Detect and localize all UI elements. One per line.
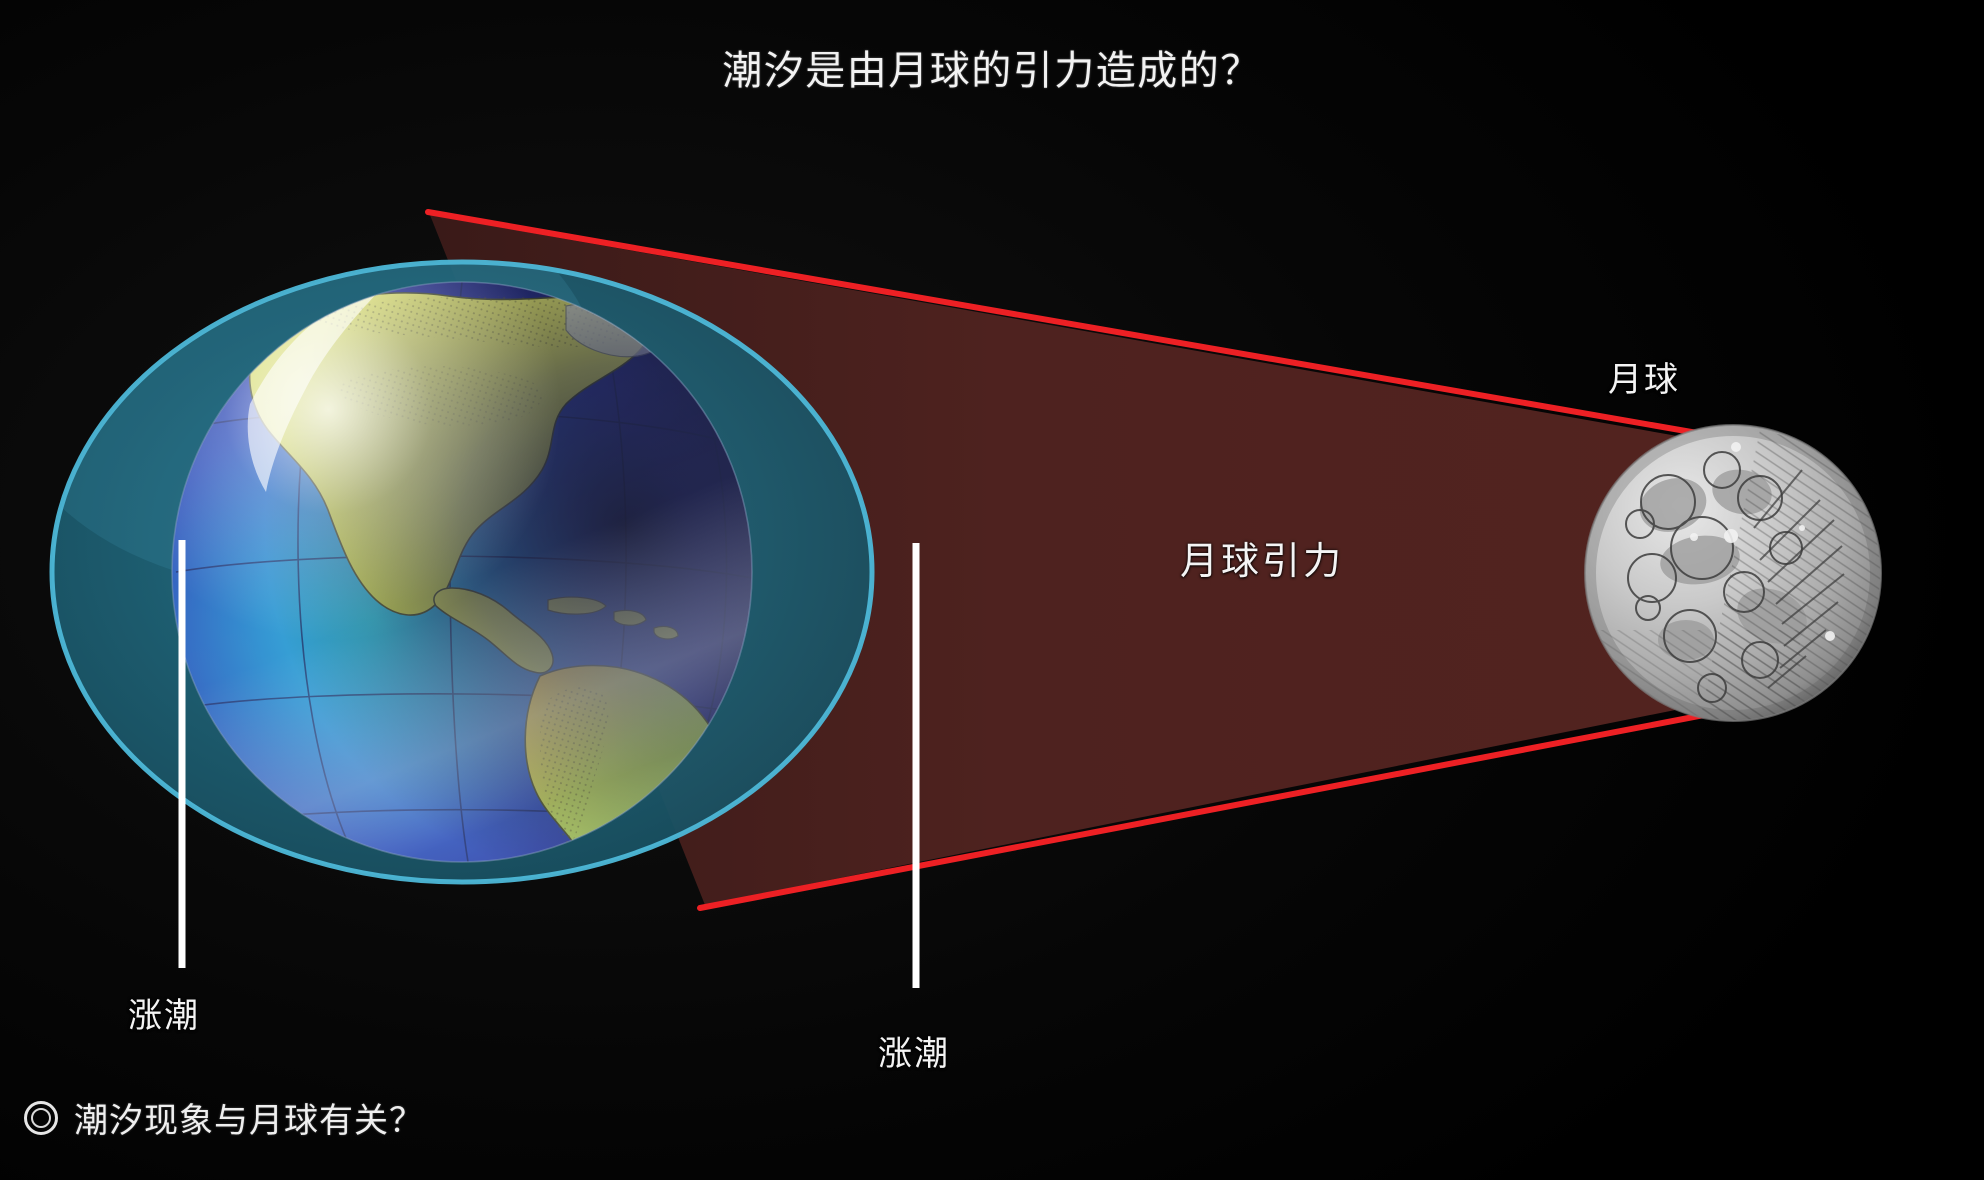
double-circle-icon — [24, 1101, 58, 1135]
footnote-text: 潮汐现象与月球有关？ — [74, 1093, 424, 1142]
illustration-canvas: 潮汐是由月球的引力造成的？ — [0, 0, 1984, 1180]
footnote: 潮汐现象与月球有关？ — [24, 1093, 424, 1142]
earth-highlight — [172, 282, 752, 862]
tide-diagram-svg — [0, 0, 1984, 1180]
